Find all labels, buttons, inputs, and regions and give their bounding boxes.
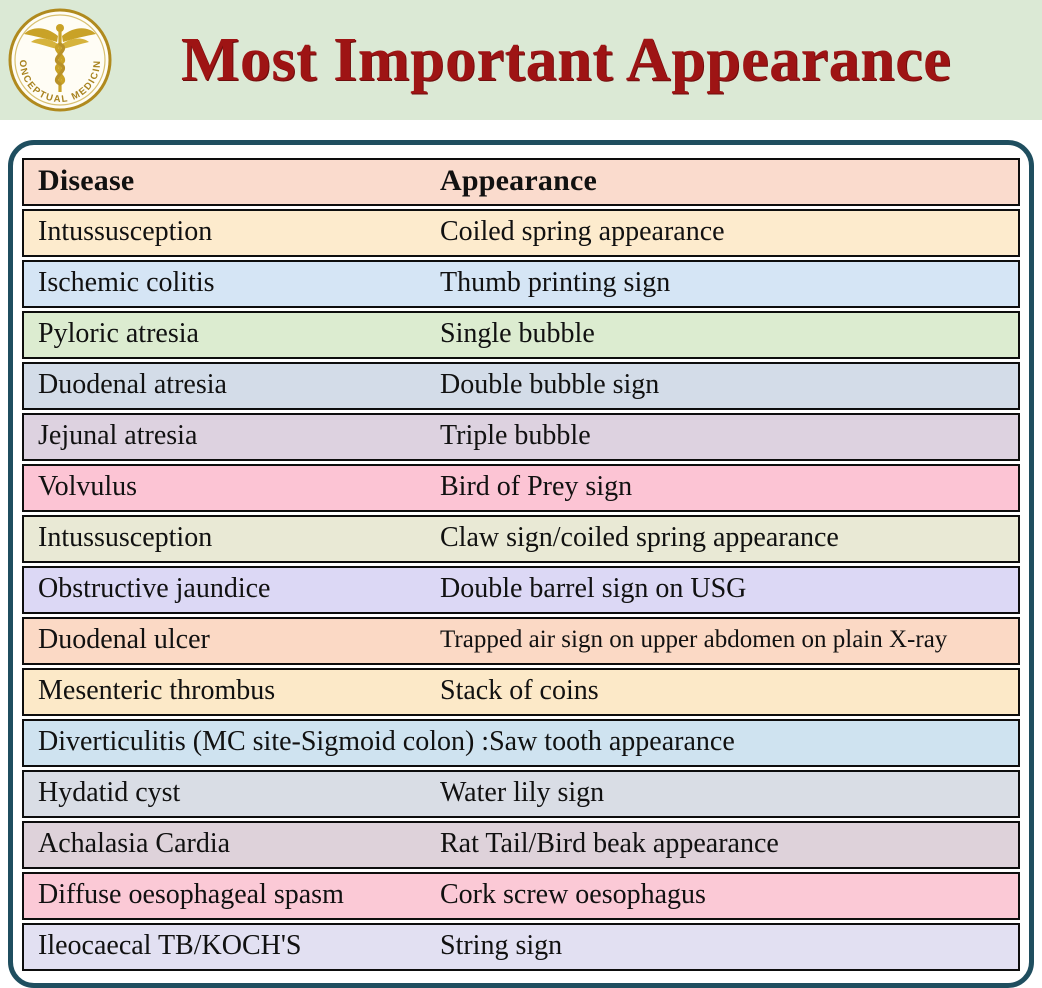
table-row: Diverticulitis (MC site-Sigmoid colon) :… bbox=[22, 719, 1020, 767]
table-cell-appearance: Single bubble bbox=[432, 311, 1020, 359]
table-body: DiseaseAppearanceIntussusceptionCoiled s… bbox=[22, 158, 1020, 971]
conceptual-medicine-logo: CONCEPTUAL MEDICINE bbox=[4, 4, 116, 116]
page-banner: CONCEPTUAL MEDICINE Most Important Appea… bbox=[0, 0, 1042, 120]
table-cell-appearance: Double bubble sign bbox=[432, 362, 1020, 410]
table-cell-disease: Ischemic colitis bbox=[22, 260, 432, 308]
table-cell-disease: Pyloric atresia bbox=[22, 311, 432, 359]
table-header-row: DiseaseAppearance bbox=[22, 158, 1020, 206]
table-row: IntussusceptionCoiled spring appearance bbox=[22, 209, 1020, 257]
table-cell-merged: Diverticulitis (MC site-Sigmoid colon) :… bbox=[22, 719, 1020, 767]
table-row: Ischemic colitisThumb printing sign bbox=[22, 260, 1020, 308]
table-row: Ileocaecal TB/KOCH'SString sign bbox=[22, 923, 1020, 971]
table-cell-disease: Ileocaecal TB/KOCH'S bbox=[22, 923, 432, 971]
table-cell-appearance: Cork screw oesophagus bbox=[432, 872, 1020, 920]
table-row: Diffuse oesophageal spasmCork screw oeso… bbox=[22, 872, 1020, 920]
table-row: Duodenal ulcerTrapped air sign on upper … bbox=[22, 617, 1020, 665]
table-cell-disease: Diffuse oesophageal spasm bbox=[22, 872, 432, 920]
table-cell-disease: Achalasia Cardia bbox=[22, 821, 432, 869]
table-row: Jejunal atresiaTriple bubble bbox=[22, 413, 1020, 461]
column-header-appearance: Appearance bbox=[432, 158, 1020, 206]
table-cell-disease: Hydatid cyst bbox=[22, 770, 432, 818]
appearance-table-frame: DiseaseAppearanceIntussusceptionCoiled s… bbox=[8, 140, 1034, 988]
table-row: Hydatid cystWater lily sign bbox=[22, 770, 1020, 818]
table-cell-appearance: Triple bubble bbox=[432, 413, 1020, 461]
table-cell-appearance: Claw sign/coiled spring appearance bbox=[432, 515, 1020, 563]
table-cell-disease: Mesenteric thrombus bbox=[22, 668, 432, 716]
table-cell-disease: Intussusception bbox=[22, 209, 432, 257]
table-row: VolvulusBird of Prey sign bbox=[22, 464, 1020, 512]
table-cell-appearance: Stack of coins bbox=[432, 668, 1020, 716]
table-cell-disease: Duodenal ulcer bbox=[22, 617, 432, 665]
table-row: Pyloric atresiaSingle bubble bbox=[22, 311, 1020, 359]
table-cell-disease: Intussusception bbox=[22, 515, 432, 563]
table-cell-appearance: Double barrel sign on USG bbox=[432, 566, 1020, 614]
table-row: IntussusceptionClaw sign/coiled spring a… bbox=[22, 515, 1020, 563]
table-row: Obstructive jaundiceDouble barrel sign o… bbox=[22, 566, 1020, 614]
table-cell-disease: Duodenal atresia bbox=[22, 362, 432, 410]
table-row: Mesenteric thrombusStack of coins bbox=[22, 668, 1020, 716]
table-cell-appearance: Coiled spring appearance bbox=[432, 209, 1020, 257]
table-cell-appearance: Water lily sign bbox=[432, 770, 1020, 818]
table-cell-disease: Obstructive jaundice bbox=[22, 566, 432, 614]
table-cell-appearance: Thumb printing sign bbox=[432, 260, 1020, 308]
table-cell-appearance: Trapped air sign on upper abdomen on pla… bbox=[432, 617, 1020, 665]
table-cell-appearance: Rat Tail/Bird beak appearance bbox=[432, 821, 1020, 869]
table-cell-disease: Volvulus bbox=[22, 464, 432, 512]
disease-appearance-table: DiseaseAppearanceIntussusceptionCoiled s… bbox=[22, 155, 1020, 974]
table-row: Achalasia CardiaRat Tail/Bird beak appea… bbox=[22, 821, 1020, 869]
column-header-disease: Disease bbox=[22, 158, 432, 206]
page-title: Most Important Appearance bbox=[116, 29, 1042, 91]
table-cell-disease: Jejunal atresia bbox=[22, 413, 432, 461]
table-cell-appearance: String sign bbox=[432, 923, 1020, 971]
table-row: Duodenal atresiaDouble bubble sign bbox=[22, 362, 1020, 410]
table-cell-appearance: Bird of Prey sign bbox=[432, 464, 1020, 512]
